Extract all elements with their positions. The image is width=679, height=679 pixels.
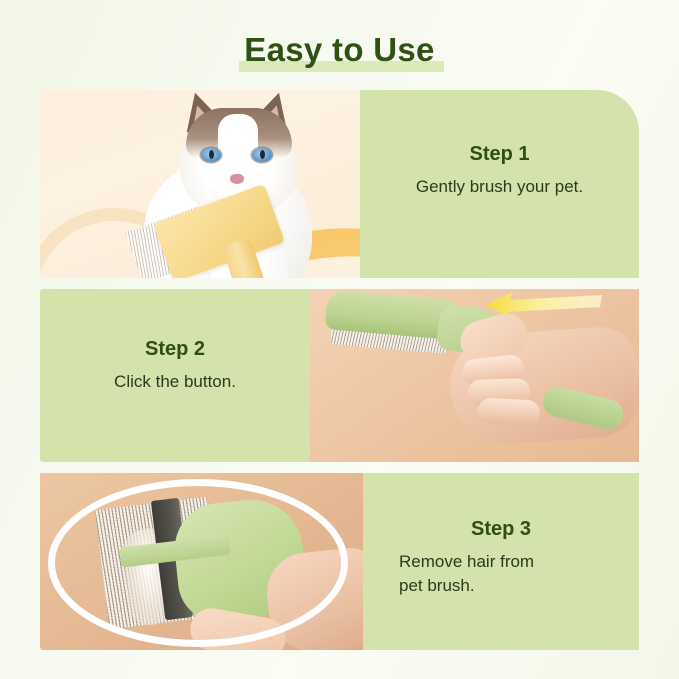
page-title-area: Easy to Use bbox=[0, 28, 679, 80]
cat-pupil-left bbox=[209, 150, 214, 159]
step-1-title: Step 1 bbox=[360, 142, 639, 166]
cat-pupil-right bbox=[260, 150, 265, 159]
page-title: Easy to Use bbox=[244, 28, 434, 72]
step-3-content: Step 3 Remove hair from pet brush. bbox=[363, 517, 639, 598]
step-2-title: Step 2 bbox=[40, 337, 310, 361]
step-2-content: Step 2 Click the button. bbox=[40, 337, 310, 394]
step-1-photo bbox=[40, 90, 360, 278]
step-2-description: Click the button. bbox=[40, 370, 310, 394]
step-3-text-panel: Step 3 Remove hair from pet brush. bbox=[363, 473, 639, 650]
infographic-page: Easy to Use Step 1 Gently brush y bbox=[0, 0, 679, 679]
cat-face-blaze bbox=[218, 114, 258, 176]
hand-finger bbox=[477, 397, 540, 426]
step-3-description-line-2: pet brush. bbox=[363, 574, 639, 598]
step-3-title: Step 3 bbox=[363, 517, 639, 541]
step-3-photo bbox=[40, 473, 363, 650]
ellipse-highlight-icon bbox=[48, 479, 348, 647]
cat-nose bbox=[230, 174, 244, 184]
step-2-text-panel: Step 2 Click the button. bbox=[40, 289, 310, 462]
step-1-description: Gently brush your pet. bbox=[360, 175, 639, 199]
step-3-description-line-1: Remove hair from bbox=[363, 550, 639, 574]
left-arrow-icon bbox=[486, 291, 604, 317]
step-2-photo bbox=[310, 289, 639, 462]
step-1-content: Step 1 Gently brush your pet. bbox=[360, 142, 639, 199]
step-1-text-panel: Step 1 Gently brush your pet. bbox=[360, 90, 639, 278]
